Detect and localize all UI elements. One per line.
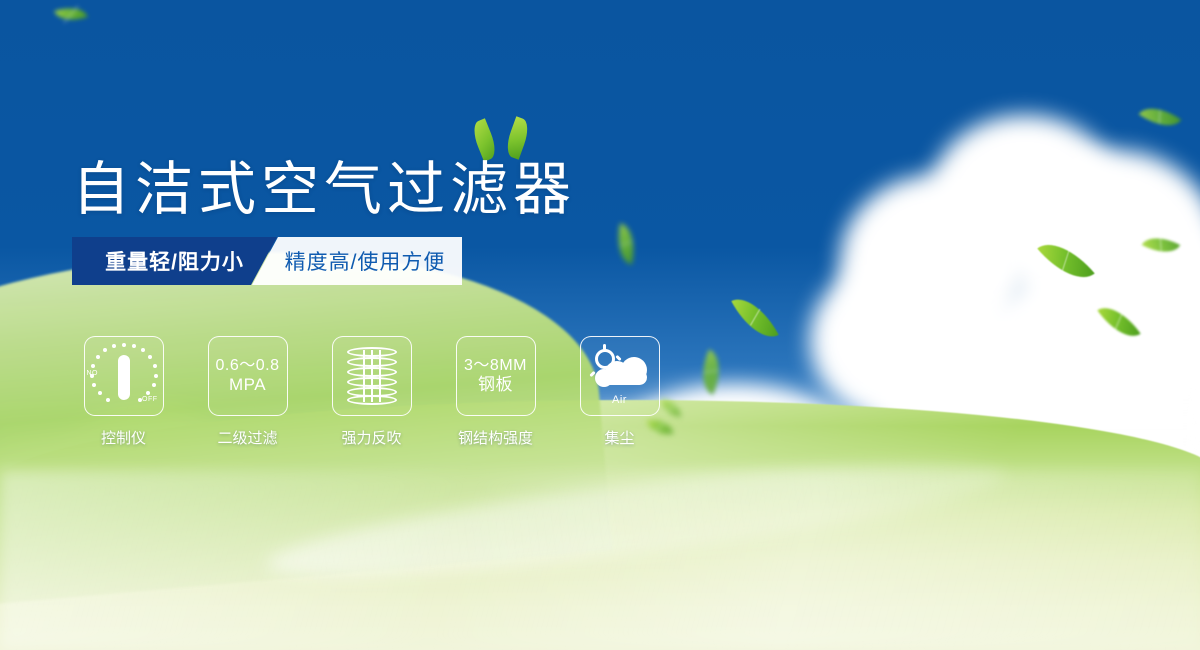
subtitle-left-panel: 重量轻/阻力小 (72, 237, 277, 285)
pressure-unit: MPA (229, 375, 266, 395)
pressure-value: 0.6～0.8 (216, 357, 280, 376)
feature-icon-box: 0.6～0.8 MPA (208, 336, 288, 416)
dial-no-label: NO (87, 370, 99, 377)
subtitle-bar: 重量轻/阻力小 精度高/使用方便 (72, 237, 462, 285)
feature-label: 集尘 (604, 427, 634, 448)
feature-item-control[interactable]: NO OFF 控制仪 (76, 336, 171, 448)
feature-icon-box (332, 336, 412, 416)
feature-icon-box: NO OFF (84, 336, 164, 416)
banner-content: 自洁式空气过滤器 重量轻/阻力小 精度高/使用方便 (0, 0, 1200, 650)
feature-item-pressure[interactable]: 0.6～0.8 MPA 二级过滤 (200, 336, 295, 448)
feature-item-backblow[interactable]: 强力反吹 (324, 336, 419, 448)
feature-label: 控制仪 (101, 427, 146, 448)
air-cloud-icon (589, 347, 651, 393)
subtitle-right-panel: 精度高/使用方便 (252, 237, 462, 285)
feature-item-dust[interactable]: Air 集尘 (572, 336, 667, 448)
page-title: 自洁式空气过滤器 (72, 142, 576, 226)
filter-coil-icon (347, 347, 397, 405)
control-dial-icon: NO OFF (88, 340, 160, 412)
hero-banner: 自洁式空气过滤器 重量轻/阻力小 精度高/使用方便 (0, 0, 1200, 650)
feature-list: NO OFF 控制仪 0.6～0.8 MPA 二级过滤 (76, 336, 667, 448)
dial-needle-icon (118, 355, 130, 400)
dial-off-label: OFF (142, 396, 158, 403)
steel-material: 钢板 (478, 375, 513, 395)
subtitle-right-text: 精度高/使用方便 (269, 246, 446, 276)
feature-item-steel[interactable]: 3～8MM 钢板 钢结构强度 (448, 336, 543, 448)
steel-thickness: 3～8MM (464, 357, 527, 376)
feature-label: 钢结构强度 (458, 427, 533, 448)
feature-label: 强力反吹 (341, 427, 401, 448)
feature-icon-box: 3～8MM 钢板 (456, 336, 536, 416)
subtitle-left-text: 重量轻/阻力小 (105, 246, 244, 276)
feature-icon-box: Air (580, 336, 660, 416)
feature-label: 二级过滤 (217, 427, 277, 448)
air-label: Air (612, 394, 627, 406)
